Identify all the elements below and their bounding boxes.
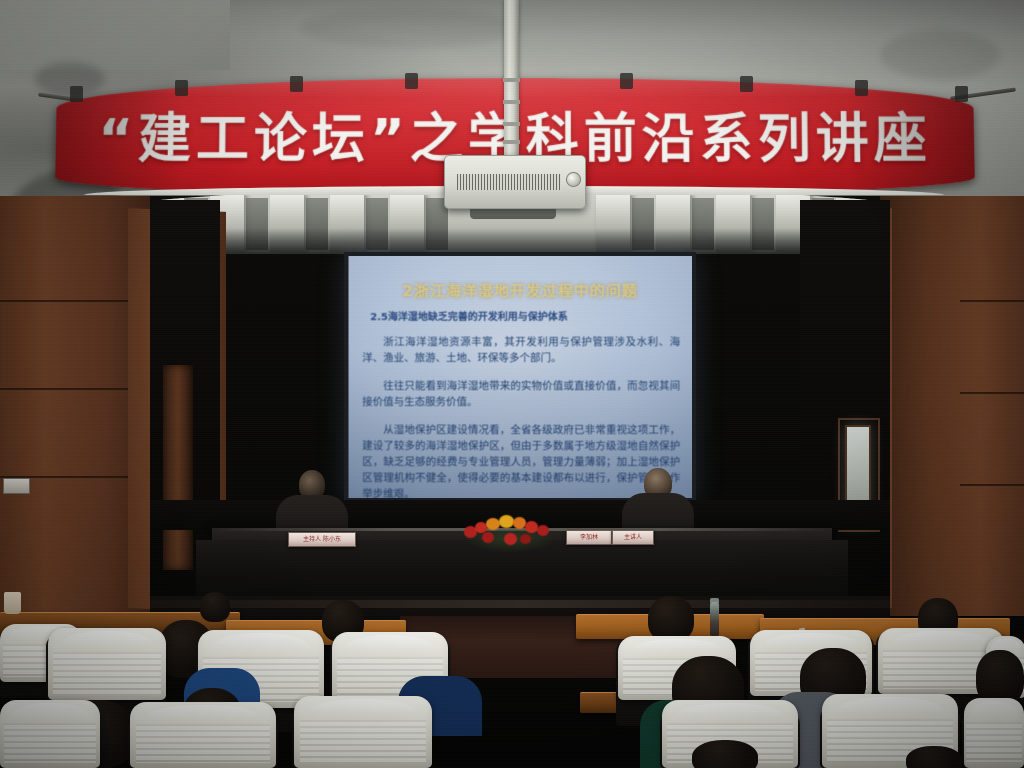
- light-switch[interactable]: [3, 478, 30, 494]
- lecture-hall-photo: “建工论坛”之学科前沿系列讲座: [0, 0, 1024, 768]
- flower: [525, 521, 538, 533]
- panel-seam: [0, 300, 128, 302]
- banner-clip: [405, 73, 418, 89]
- audience-head: [692, 740, 758, 768]
- flower: [504, 533, 517, 545]
- water-bottle: [710, 602, 719, 636]
- name-card: 李加林: [566, 530, 612, 545]
- stage-floor-strip: [150, 600, 890, 608]
- seat-cover: [964, 698, 1024, 768]
- wall-stain: [300, 8, 520, 48]
- doorway-left[interactable]: [163, 365, 193, 570]
- wall-stain: [880, 30, 1000, 80]
- banner-clip: [855, 80, 868, 96]
- projection-screen: 2浙江海洋湿地开发过程中的问题 2.5海洋湿地缺乏完善的开发利用与保护体系 浙江…: [348, 256, 692, 498]
- name-card-text: 主讲人: [613, 531, 653, 544]
- seat-cover: [294, 696, 432, 768]
- audience-head: [200, 592, 230, 622]
- audience-head: [906, 746, 962, 768]
- panel-seam: [0, 388, 128, 390]
- floral-arrangement: [458, 512, 562, 550]
- wall-panel-right: [880, 196, 1024, 616]
- seat-cover: [0, 700, 100, 768]
- slide-paragraph: 往往只能看到海洋湿地带来的实物价值或直接价值，而忽视其间接价值与生态服务价值。: [362, 378, 680, 410]
- slide-paragraph: 浙江海洋湿地资源丰富，其开发利用与保护管理涉及水利、海洋、渔业、旅游、土地、环保…: [362, 334, 680, 366]
- banner-clip: [620, 73, 633, 89]
- panel-seam: [960, 484, 1024, 486]
- flower: [482, 532, 494, 543]
- panel-seam: [960, 392, 1024, 394]
- flower: [499, 515, 514, 528]
- ceiling-corner: [0, 0, 230, 70]
- name-card-text: 李加林: [567, 531, 611, 544]
- projector-icon: [444, 155, 586, 209]
- name-card: 主讲人: [612, 530, 654, 545]
- banner-clip: [175, 80, 188, 96]
- slide-subtitle: 2.5海洋湿地缺乏完善的开发利用与保护体系: [370, 308, 568, 323]
- slide-title: 2浙江海洋湿地开发过程中的问题: [348, 280, 692, 301]
- seat-cover: [48, 628, 166, 700]
- flower: [486, 518, 500, 530]
- projector-vent: [457, 174, 561, 190]
- projector-lens: [566, 172, 581, 187]
- seat-cover: [130, 702, 276, 768]
- panel-seam: [960, 300, 1024, 302]
- banner-clip: [740, 76, 753, 92]
- banner-clip: [955, 86, 968, 102]
- flower: [520, 534, 531, 544]
- flower: [537, 525, 549, 536]
- paper-cup: [4, 592, 21, 614]
- name-card-text: 主持人 陈小东: [289, 533, 355, 546]
- projector-pole: [504, 0, 519, 160]
- name-card: 主持人 陈小东: [288, 532, 356, 547]
- banner-clip: [290, 76, 303, 92]
- banner-clip: [70, 86, 83, 102]
